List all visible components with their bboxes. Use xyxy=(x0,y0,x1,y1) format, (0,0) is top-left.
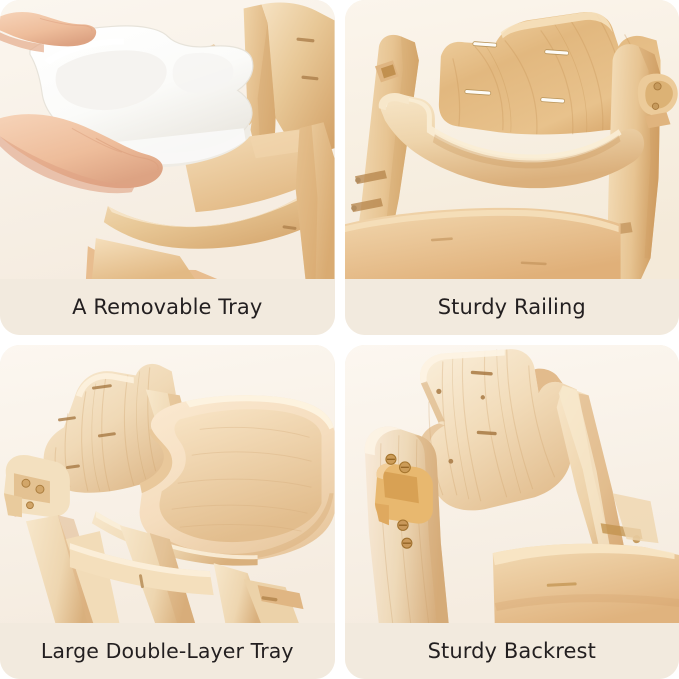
card-caption-sturdy-backrest: Sturdy Backrest xyxy=(345,623,679,679)
feature-card-sturdy-railing[interactable]: Sturdy Railing xyxy=(345,0,679,335)
photo-large-double-layer-tray xyxy=(0,345,335,624)
card-caption-sturdy-railing: Sturdy Railing xyxy=(345,279,679,335)
feature-card-sturdy-backrest[interactable]: Sturdy Backrest xyxy=(345,345,679,679)
photo-sturdy-backrest xyxy=(345,345,679,624)
illustration-removable-tray xyxy=(0,0,335,279)
feature-card-large-double-layer-tray[interactable]: Large Double-Layer Tray xyxy=(0,345,335,679)
feature-card-removable-tray[interactable]: A Removable Tray xyxy=(0,0,335,335)
illustration-sturdy-backrest xyxy=(345,345,679,624)
illustration-large-double-layer-tray xyxy=(0,345,335,624)
photo-sturdy-railing xyxy=(345,0,679,279)
card-caption-removable-tray: A Removable Tray xyxy=(0,279,335,335)
card-caption-large-double-layer-tray: Large Double-Layer Tray xyxy=(0,623,335,679)
feature-grid: A Removable Tray xyxy=(0,0,679,679)
photo-removable-tray xyxy=(0,0,335,279)
illustration-sturdy-railing xyxy=(345,0,679,279)
